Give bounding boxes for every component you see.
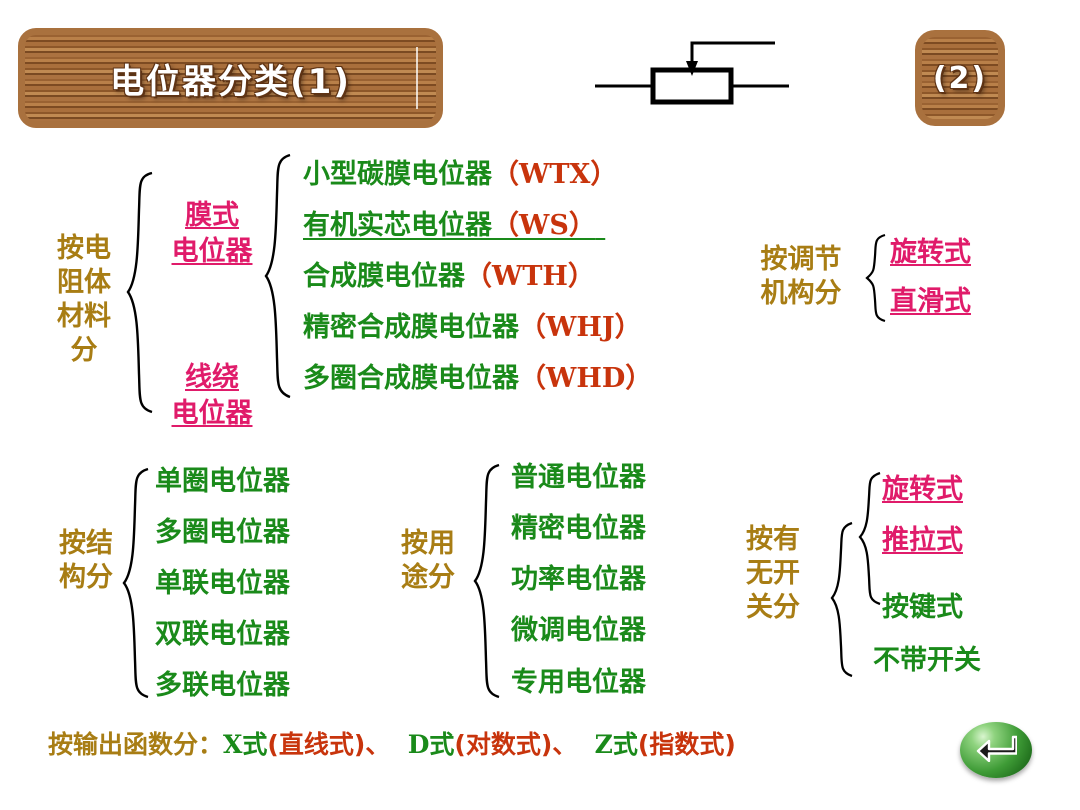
brace-structure [116,466,152,704]
brace-switch-inner [855,470,883,612]
material-item-3-name: 精密合成膜电位器 [303,312,519,343]
material-item-4-code: （WHD） [519,363,652,394]
structure-item-2: 单联电位器 [155,568,290,600]
output-function-line: 按输出函数分：X式(直线式)、 D式(对数式)、 Z式(指数式) [48,725,736,761]
footer-code-1: D式 [408,730,455,759]
category-label-adjust: 按调节 机构分 [745,243,857,311]
brace-switch-outer [826,520,856,684]
usage-item-1: 精密电位器 [511,513,646,545]
material-item-2: 合成膜电位器（WTH） [303,254,595,293]
adjust-item-0: 旋转式 [890,237,971,269]
material-item-1-name: 有机实芯电位器 [303,210,492,241]
usage-item-3: 微调电位器 [511,615,646,647]
structure-item-1: 多圈电位器 [155,517,290,549]
footer-gap-1 [577,730,594,759]
footer-gap-0 [390,730,407,759]
structure-item-4: 多联电位器 [155,670,290,702]
slide-canvas: 电位器分类(1) (2) 按电 阻体 材料 分 膜式 电位器 线绕 电位器 小型… [0,0,1080,810]
usage-item-4: 专用电位器 [511,667,646,699]
brace-material-outer [118,170,156,419]
switch-item-2: 按键式 [882,592,963,624]
material-item-1-underline-tail [596,210,605,241]
material-item-0-code: （WTX） [492,159,617,190]
structure-item-3: 双联电位器 [155,619,290,651]
page-number: (2) [933,61,987,96]
brace-adjust [862,232,888,328]
footer-desc-2: (指数式) [638,730,736,759]
footer-code-2: Z式 [595,730,638,759]
category-label-usage: 按用 途分 [384,527,472,595]
switch-item-3: 不带开关 [873,645,981,677]
output-function-label: 按输出函数分： [48,730,223,759]
material-item-1: 有机实芯电位器（WS） [303,203,605,242]
usage-item-2: 功率电位器 [511,564,646,596]
switch-item-1: 推拉式 [882,525,963,557]
material-item-3: 精密合成膜电位器（WHJ） [303,305,642,344]
footer-code-0: X式 [223,730,267,759]
material-item-0: 小型碳膜电位器（WTX） [303,152,617,191]
footer-desc-1: (对数式)、 [454,730,577,759]
switch-item-0: 旋转式 [882,474,963,506]
footer-desc-0: (直线式)、 [267,730,390,759]
material-item-2-name: 合成膜电位器 [303,261,465,292]
title-plate: 电位器分类(1) [18,28,443,128]
usage-item-0: 普通电位器 [511,462,646,494]
subgroup-label-wirewound: 线绕 电位器 [160,360,264,432]
potentiometer-symbol [585,28,795,128]
page-number-plate: (2) [915,30,1005,126]
subgroup-label-film: 膜式 电位器 [160,198,264,270]
title-divider [416,47,418,109]
material-item-1-code: （WS） [492,210,596,241]
material-item-0-name: 小型碳膜电位器 [303,159,492,190]
category-label-switch: 按有 无开 关分 [727,523,819,625]
material-item-4-name: 多圈合成膜电位器 [303,363,519,394]
brace-material-inner [258,152,294,404]
material-item-2-code: （WTH） [465,261,595,292]
adjust-item-1: 直滑式 [890,286,971,318]
return-arrow-icon [975,734,1017,766]
material-item-3-code: （WHJ） [519,312,642,343]
return-button[interactable] [960,722,1032,778]
structure-item-0: 单圈电位器 [155,466,290,498]
material-item-4: 多圈合成膜电位器（WHD） [303,356,652,395]
brace-usage [467,462,503,704]
page-title: 电位器分类(1) [110,54,351,103]
